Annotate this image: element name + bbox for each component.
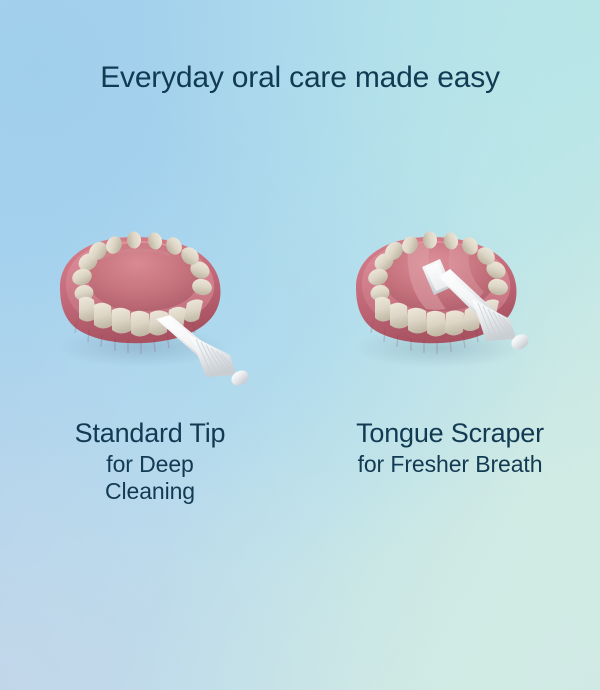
dental-model-tongue-scraper-figure xyxy=(330,215,570,390)
feature-column-standard-tip: Standard Tip for Deep Cleaning xyxy=(0,215,300,505)
dental-model-tongue-scraper-illustration xyxy=(330,215,570,390)
caption-sub-line-1: for Deep xyxy=(5,451,295,478)
dental-model-standard-tip-illustration xyxy=(30,215,270,390)
page-title: Everyday oral care made easy xyxy=(0,59,600,97)
caption-sub-line-2: Cleaning xyxy=(5,478,295,505)
caption-main-tongue-scraper: Tongue Scraper xyxy=(305,418,595,449)
caption-sub-tongue-scraper: for Fresher Breath xyxy=(305,451,595,478)
caption-tongue-scraper: Tongue Scraper for Fresher Breath xyxy=(305,418,595,478)
caption-main-standard-tip: Standard Tip xyxy=(5,418,295,449)
caption-sub-line-1: for Fresher Breath xyxy=(305,451,595,478)
feature-columns: Standard Tip for Deep Cleaning xyxy=(0,215,600,505)
feature-column-tongue-scraper: Tongue Scraper for Fresher Breath xyxy=(300,215,600,505)
dental-model-standard-tip-figure xyxy=(30,215,270,390)
caption-standard-tip: Standard Tip for Deep Cleaning xyxy=(5,418,295,505)
infographic-page: Everyday oral care made easy xyxy=(0,0,600,690)
caption-sub-standard-tip: for Deep Cleaning xyxy=(5,451,295,505)
